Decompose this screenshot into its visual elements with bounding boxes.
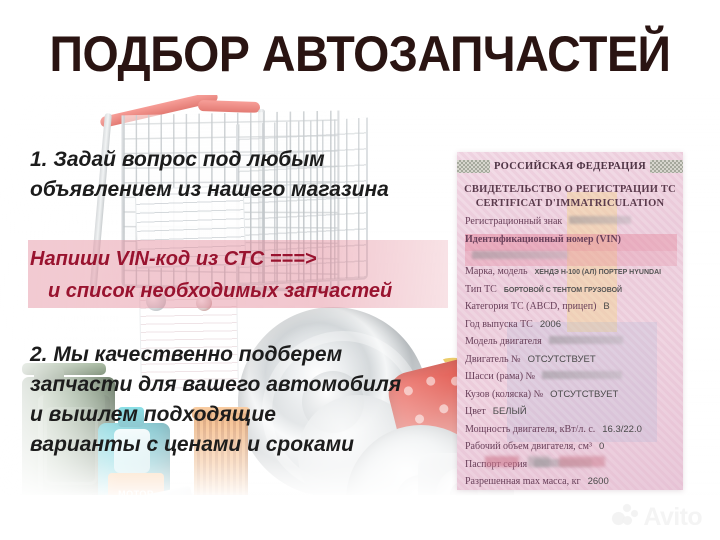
certificate-field-value: 16.3/22.0 bbox=[602, 424, 642, 435]
certificate-field-list: Регистрационный знакИдентификационный но… bbox=[465, 216, 677, 490]
certificate-field-label: Марка, модель bbox=[465, 266, 528, 277]
certificate-header: РОССИЙСКАЯ ФЕДЕРАЦИЯ bbox=[457, 160, 683, 173]
certificate-field-value: 2600 bbox=[588, 476, 609, 487]
certificate-field-label: Цвет bbox=[465, 406, 486, 417]
certificate-row: Регистрационный знак bbox=[465, 216, 677, 234]
certificate-row: Марка, модельХЕНДЭ Н-100 (АЛ) ПОРТЕР HYU… bbox=[465, 266, 677, 284]
certificate-field-label: Шасси (рама) № bbox=[465, 371, 535, 382]
certificate-field-label: Категория ТС (ABCD, прицеп) bbox=[465, 301, 596, 312]
certificate-field-label: Мощность двигателя, кВт/л. с. bbox=[465, 424, 595, 435]
certificate-field-value: ХЕНДЭ Н-100 (АЛ) ПОРТЕР HYUNDAI bbox=[535, 269, 661, 276]
certificate-field-value: 0 bbox=[599, 441, 604, 452]
guilloche-pattern-icon bbox=[457, 160, 490, 173]
certificate-field-value-redacted bbox=[569, 216, 631, 224]
certificate-row: Модель двигателя bbox=[465, 336, 677, 354]
certificate-field-value-redacted bbox=[472, 251, 568, 259]
certificate-field-label: Модель двигателя bbox=[465, 336, 542, 347]
certificate-row: Кузов (коляска) №ОТСУТСТВУЕТ bbox=[465, 389, 677, 407]
certificate-row: Шасси (рама) № bbox=[465, 371, 677, 389]
certificate-field-label: Регистрационный знак bbox=[465, 216, 562, 227]
certificate-row: Год выпуска ТС2006 bbox=[465, 319, 677, 337]
page-title: ПОДБОР АВТОЗАПЧАСТЕЙ bbox=[25, 26, 695, 82]
certificate-footer-blurred bbox=[485, 454, 635, 466]
vin-callout-line-2: и список необходимых запчастей bbox=[30, 275, 460, 307]
certificate-field-label: Двигатель № bbox=[465, 354, 521, 365]
certificate-field-label: Разрешенная max масса, кг bbox=[465, 476, 581, 487]
poster-canvas: MOTOR bbox=[0, 0, 720, 540]
certificate-field-value: ОТСУТСТВУЕТ bbox=[550, 389, 618, 400]
certificate-field-value: 2006 bbox=[540, 319, 561, 330]
certificate-row: Двигатель №ОТСУТСТВУЕТ bbox=[465, 354, 677, 372]
certificate-title-fr: CERTIFICAT D'IMMATRICULATION bbox=[457, 198, 683, 209]
certificate-row: Разрешенная max масса, кг2600 bbox=[465, 476, 677, 490]
certificate-row bbox=[465, 251, 677, 266]
certificate-title-ru: СВИДЕТЕЛЬСТВО О РЕГИСТРАЦИИ ТС bbox=[457, 184, 683, 195]
vin-callout-line-1: Напиши VIN-код из СТС ===> bbox=[30, 248, 316, 270]
certificate-row: Мощность двигателя, кВт/л. с.16.3/22.0 bbox=[465, 424, 677, 442]
certificate-row: ЦветБЕЛЫЙ bbox=[465, 406, 677, 424]
certificate-row: Категория ТС (ABCD, прицеп)B bbox=[465, 301, 677, 319]
certificate-field-value: БЕЛЫЙ bbox=[493, 406, 527, 417]
step-2-text: 2. Мы качественно подберем запчасти для … bbox=[30, 340, 401, 460]
certificate-field-value-redacted bbox=[542, 371, 622, 379]
certificate-row: Идентификационный номер (VIN) bbox=[465, 234, 677, 252]
avito-logo-icon bbox=[612, 504, 638, 530]
certificate-field-label: Идентификационный номер (VIN) bbox=[465, 234, 621, 245]
step-1-text: 1. Задай вопрос под любым объявлением из… bbox=[30, 145, 389, 205]
certificate-field-label: Тип ТС bbox=[465, 284, 497, 295]
certificate-country: РОССИЙСКАЯ ФЕДЕРАЦИЯ bbox=[494, 161, 646, 172]
certificate-field-value: БОРТОВОЙ С ТЕНТОМ ГРУЗОВОЙ bbox=[504, 287, 622, 294]
certificate-field-label: Рабочий объем двигателя, см³ bbox=[465, 441, 592, 452]
vehicle-registration-certificate: РОССИЙСКАЯ ФЕДЕРАЦИЯ СВИДЕТЕЛЬСТВО О РЕГ… bbox=[457, 152, 683, 490]
certificate-field-value: B bbox=[603, 301, 609, 312]
certificate-row: Тип ТСБОРТОВОЙ С ТЕНТОМ ГРУЗОВОЙ bbox=[465, 284, 677, 302]
vin-callout: Напиши VIN-код из СТС ===> и список необ… bbox=[30, 243, 460, 307]
avito-wordmark: Avito bbox=[643, 505, 702, 530]
certificate-field-label: Год выпуска ТС bbox=[465, 319, 533, 330]
certificate-field-value: ОТСУТСТВУЕТ bbox=[528, 354, 596, 365]
certificate-field-label: Кузов (коляска) № bbox=[465, 389, 543, 400]
guilloche-pattern-icon bbox=[650, 160, 683, 173]
certificate-field-value-redacted bbox=[549, 336, 623, 344]
avito-watermark: Avito bbox=[612, 504, 702, 530]
